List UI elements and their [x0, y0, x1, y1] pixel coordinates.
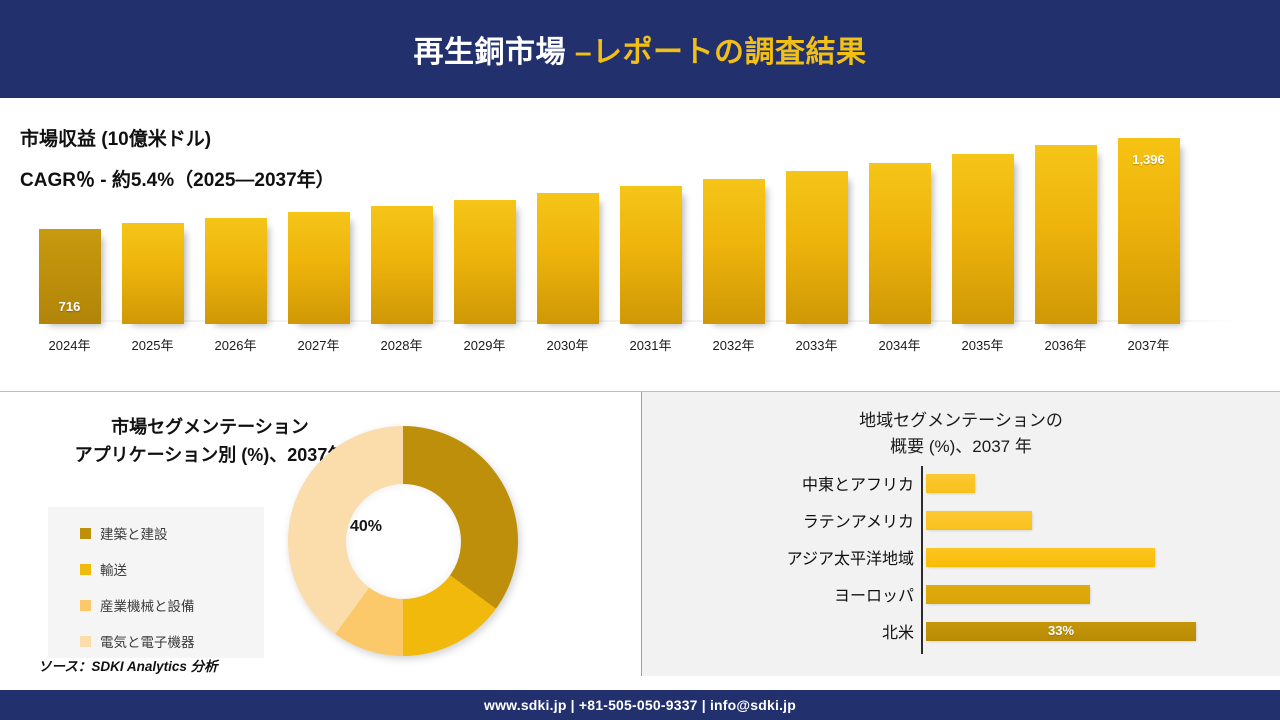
regional-bar — [926, 585, 1090, 604]
revenue-bar — [371, 206, 433, 324]
revenue-bar — [952, 154, 1014, 324]
bar-slot: 2033年 — [775, 171, 858, 324]
bar-category-label: 2032年 — [692, 335, 775, 354]
legend-item-label: 輸送 — [100, 559, 127, 579]
bar-category-label: 2036年 — [1024, 335, 1107, 354]
bar-category-label: 2029年 — [443, 335, 526, 354]
bar-category-label: 2028年 — [360, 335, 443, 354]
regional-category-label: 北米 — [642, 619, 926, 643]
revenue-bar — [869, 163, 931, 324]
regional-bar — [926, 474, 975, 493]
revenue-bar: 1,396 — [1118, 138, 1180, 324]
bar-category-label: 2024年 — [28, 335, 111, 354]
regional-bar: 33% — [926, 622, 1196, 641]
regional-category-label: ラテンアメリカ — [642, 508, 926, 532]
revenue-chart-panel: 市場収益 (10億米ドル) CAGR％ - 約5.4%（2025―2037年） … — [0, 98, 1280, 392]
bar-category-label: 2027年 — [277, 335, 360, 354]
bar-slot: 2026年 — [194, 218, 277, 324]
revenue-bar — [288, 212, 350, 324]
bar-category-label: 2037年 — [1107, 335, 1190, 354]
page-title: 再生銅市場 –レポートの調査結果 — [413, 27, 866, 71]
revenue-bar — [205, 218, 267, 324]
regional-title-line1: 地域セグメンテーションの — [859, 411, 1063, 430]
revenue-bar: 716 — [39, 229, 101, 324]
regional-bar — [926, 511, 1032, 530]
bar-category-label: 2035年 — [941, 335, 1024, 354]
regional-category-label: ヨーロッパ — [642, 582, 926, 606]
donut-slice-label: 40% — [350, 518, 382, 536]
source-note: ソース：SDKI Analytics 分析 — [38, 655, 218, 675]
regional-title: 地域セグメンテーションの 概要 (%)、2037 年 — [642, 408, 1280, 461]
donut-chart: 40% — [288, 412, 538, 662]
bar-category-label: 2030年 — [526, 335, 609, 354]
regional-panel: 地域セグメンテーションの 概要 (%)、2037 年 中東とアフリカラテンアメリ… — [642, 392, 1280, 676]
revenue-bar — [1035, 145, 1097, 324]
infographic-page: 再生銅市場 –レポートの調査結果 市場収益 (10億米ドル) CAGR％ - 約… — [0, 0, 1280, 720]
regional-row: ヨーロッパ — [642, 577, 1280, 611]
legend-swatch-icon — [80, 528, 91, 539]
bar-value-label: 1,396 — [1118, 152, 1180, 167]
bar-slot: 2030年 — [526, 193, 609, 324]
bar-plot-area: 7162024年2025年2026年2027年2028年2029年2030年20… — [28, 124, 1218, 324]
bar-slot: 2027年 — [277, 212, 360, 324]
bar-slot: 2034年 — [858, 163, 941, 324]
page-title-sub: –レポートの調査結果 — [575, 36, 867, 69]
revenue-bar — [537, 193, 599, 324]
footer-contact: www.sdki.jp | +81-505-050-9337 | info@sd… — [484, 697, 796, 713]
page-title-main: 再生銅市場 — [413, 36, 574, 69]
regional-row: ラテンアメリカ — [642, 503, 1280, 537]
segmentation-panel: 市場セグメンテーション アプリケーション別 (%)、2037年 建築と建設輸送産… — [0, 392, 642, 676]
bar-category-label: 2031年 — [609, 335, 692, 354]
bar-slot: 2028年 — [360, 206, 443, 324]
regional-title-line2: 概要 (%)、2037 年 — [642, 434, 1280, 460]
bar-slot: 1,3962037年 — [1107, 138, 1190, 324]
legend-item-label: 電気と電子機器 — [100, 631, 195, 651]
revenue-bar — [454, 200, 516, 324]
regional-bar — [926, 548, 1155, 567]
bar-slot: 2035年 — [941, 154, 1024, 324]
regional-category-label: 中東とアフリカ — [642, 471, 926, 495]
regional-row: 中東とアフリカ — [642, 466, 1280, 500]
revenue-bar — [703, 179, 765, 324]
legend-item-label: 産業機械と設備 — [100, 595, 195, 615]
revenue-bar — [122, 223, 184, 324]
bar-value-label: 716 — [39, 299, 101, 314]
regional-bar-value-label: 33% — [926, 623, 1196, 638]
page-header: 再生銅市場 –レポートの調査結果 — [0, 0, 1280, 98]
bar-category-label: 2025年 — [111, 335, 194, 354]
legend-item: 産業機械と設備 — [48, 587, 264, 623]
regional-bar-chart: 中東とアフリカラテンアメリカアジア太平洋地域ヨーロッパ北米33% — [642, 464, 1280, 660]
bar-slot: 2032年 — [692, 179, 775, 324]
legend-swatch-icon — [80, 600, 91, 611]
bar-slot: 7162024年 — [28, 229, 111, 324]
bar-category-label: 2026年 — [194, 335, 277, 354]
bar-slot: 2025年 — [111, 223, 194, 324]
page-footer: www.sdki.jp | +81-505-050-9337 | info@sd… — [0, 690, 1280, 720]
legend-item: 輸送 — [48, 551, 264, 587]
legend-item-label: 建築と建設 — [100, 523, 168, 543]
legend-item: 建築と建設 — [48, 515, 264, 551]
regional-category-label: アジア太平洋地域 — [642, 545, 926, 569]
donut-hole — [346, 484, 461, 599]
regional-row: 北米33% — [642, 614, 1280, 648]
legend-item: 電気と電子機器 — [48, 623, 264, 659]
segmentation-legend: 建築と建設輸送産業機械と設備電気と電子機器 — [48, 507, 264, 658]
legend-swatch-icon — [80, 564, 91, 575]
legend-swatch-icon — [80, 636, 91, 647]
bar-slot: 2036年 — [1024, 145, 1107, 324]
revenue-bar — [620, 186, 682, 324]
bar-slot: 2031年 — [609, 186, 692, 324]
revenue-bar — [786, 171, 848, 324]
segmentation-title-line1: 市場セグメンテーション — [111, 417, 309, 437]
bar-category-label: 2033年 — [775, 335, 858, 354]
bar-slot: 2029年 — [443, 200, 526, 324]
bar-category-label: 2034年 — [858, 335, 941, 354]
regional-row: アジア太平洋地域 — [642, 540, 1280, 574]
revenue-bar-chart: 7162024年2025年2026年2027年2028年2029年2030年20… — [28, 98, 1243, 368]
